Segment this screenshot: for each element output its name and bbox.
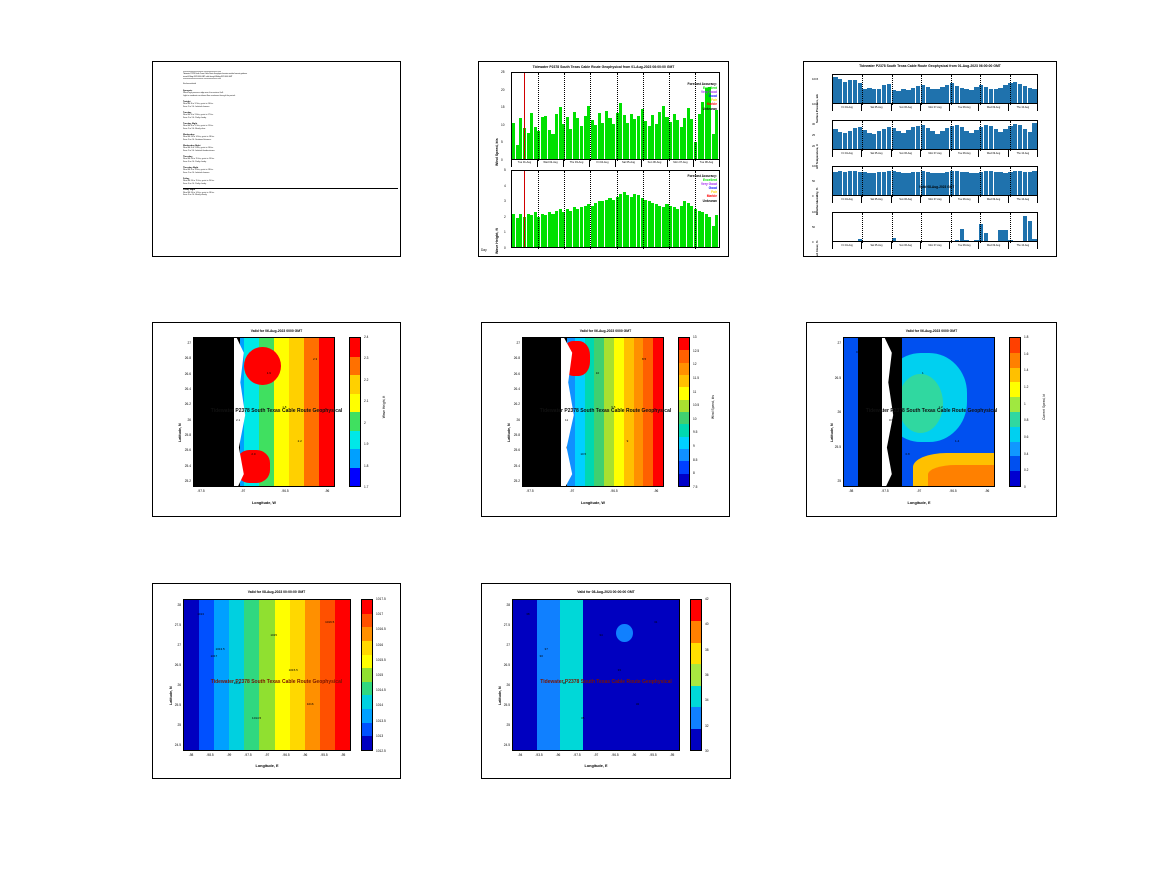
contour-band xyxy=(335,600,351,750)
day-gridline xyxy=(1010,213,1011,243)
met-bars-3 xyxy=(833,213,1037,241)
colorbar-tick: 32 xyxy=(705,724,709,728)
report-subtitle: Site forecast detail xyxy=(183,84,400,86)
map-title: Valid for 06-Aug-2023 0000 GMT xyxy=(482,329,729,333)
map-y-tick: 27 xyxy=(825,341,841,345)
day-label: Tue 08-Aug xyxy=(693,160,720,167)
y-tick-label: 0 xyxy=(501,158,503,162)
bar xyxy=(906,90,910,103)
map-y-tick: 26.5 xyxy=(825,376,841,380)
contour-label: 0.8 xyxy=(906,452,910,456)
colorbar-swatch xyxy=(350,338,360,357)
colorbar-tick: 1.4 xyxy=(1024,368,1028,372)
map-y-tick: 25.2 xyxy=(175,479,191,483)
bar xyxy=(1003,85,1007,103)
met-y-tick: 25 xyxy=(812,133,815,137)
colorbar xyxy=(349,337,361,487)
colorbar-tick: 1.6 xyxy=(1024,352,1028,356)
bar xyxy=(901,89,905,103)
colorbar-tick: 2.3 xyxy=(364,356,368,360)
contour-label: 1015 xyxy=(270,633,277,637)
day-gridline xyxy=(951,121,952,151)
map-y-tick: 25.4 xyxy=(175,464,191,468)
day-label: Fri 04-Aug xyxy=(832,104,861,111)
y-tick-label: 5 xyxy=(504,168,506,172)
day-gridline xyxy=(1010,121,1011,151)
map-y-tick: 26 xyxy=(165,683,181,687)
map-y-tick: 27 xyxy=(175,341,191,345)
contour-label: 2.3 xyxy=(205,350,209,354)
day-label: Sat 05-Aug xyxy=(861,150,890,157)
day-label: Thu 03-Aug xyxy=(563,160,589,167)
y-tick-label: 25 xyxy=(501,70,505,74)
bar xyxy=(843,172,847,195)
colorbar-swatch xyxy=(1010,382,1020,397)
bar xyxy=(964,240,968,241)
map-x-tick: -97 xyxy=(236,489,250,493)
day-label: Thu 10-Aug xyxy=(1008,104,1038,111)
map-y-tick: 27 xyxy=(165,643,181,647)
forecast-block: Tuesday Night Wind SE 8 to 12 kts, gusts… xyxy=(183,123,400,131)
colorbar xyxy=(1009,337,1021,487)
day-gridline xyxy=(980,167,981,197)
current-speed-map-panel: Valid for 06-Aug-2023 0000 GMT 0.20.40.6… xyxy=(806,322,1057,517)
colorbar xyxy=(690,599,702,751)
y-tick-label: 2 xyxy=(504,215,506,219)
map-x-tick: -97.5 xyxy=(570,753,584,757)
colorbar-swatch xyxy=(691,600,701,621)
bar xyxy=(960,229,964,241)
bar xyxy=(916,126,920,149)
day-gridline xyxy=(921,75,922,105)
contour-band xyxy=(898,374,943,433)
bar xyxy=(974,240,978,241)
colorbar-tick: 1.8 xyxy=(364,464,368,468)
now-marker-line xyxy=(524,73,525,159)
map-x-tick: -96 xyxy=(551,753,565,757)
bar xyxy=(964,172,968,195)
contour-label: 1 xyxy=(922,371,924,375)
bar xyxy=(989,171,993,195)
contour-label: 0.6 xyxy=(889,418,893,422)
met-day-axis-2: Fri 04-AugSat 05-AugSun 06-AugMon 07-Aug… xyxy=(832,196,1038,203)
map-y-tick: 27 xyxy=(504,341,520,345)
colorbar-tick: 11.5 xyxy=(693,376,699,380)
map-x-tick: -96 xyxy=(298,753,312,757)
map-x-tick: -98 xyxy=(184,753,198,757)
map-x-tick: -97.5 xyxy=(194,489,208,493)
map-y-tick: 26 xyxy=(825,410,841,414)
bar xyxy=(848,131,852,149)
map-x-tick: -97 xyxy=(565,489,579,493)
colorbar-tick: 1.8 xyxy=(1024,335,1028,339)
map-x-tick: -96.5 xyxy=(279,753,293,757)
colorbar-swatch xyxy=(1010,338,1020,353)
met-y-tick: 50 xyxy=(812,225,815,229)
colorbar-swatch xyxy=(362,668,372,682)
day-gridline xyxy=(951,167,952,197)
bar xyxy=(940,173,944,195)
bar xyxy=(926,172,930,195)
bar xyxy=(955,240,959,241)
bar xyxy=(998,230,1002,241)
chart-title: Tidewater P2378 South Texas Cable Route … xyxy=(804,64,1056,68)
colorbar-tick: 30 xyxy=(705,749,709,753)
day-label: Thu 10-Aug xyxy=(1008,242,1038,249)
met-axis-label-3: Cloud Cover, % xyxy=(815,191,819,257)
colorbar-tick: 7.5 xyxy=(693,485,697,489)
map-y-tick: 26.2 xyxy=(175,402,191,406)
bar xyxy=(901,173,905,195)
colorbar-swatch xyxy=(350,394,360,413)
forecast-block-line: Seas 2 to 4 ft. Scattered showers. xyxy=(183,139,400,142)
bar xyxy=(994,129,998,149)
contour-label: 1.4 xyxy=(955,439,959,443)
bar xyxy=(1013,124,1017,149)
map-x-tick: -97 xyxy=(912,489,926,493)
y-tick-label: 1 xyxy=(504,230,506,234)
y-tick-label: 0 xyxy=(504,246,506,250)
day-label: Sat 05-Aug xyxy=(861,104,890,111)
bar xyxy=(955,125,959,149)
colorbar-tick: 2.4 xyxy=(364,335,368,339)
colorbar-swatch xyxy=(691,643,701,664)
colorbar-swatch xyxy=(679,412,689,424)
contour-label: 31 xyxy=(654,620,657,624)
contour-label: 30 xyxy=(540,654,543,658)
map-y-tick: 26 xyxy=(494,683,510,687)
day-gridline xyxy=(951,75,952,105)
colorbar-swatch xyxy=(679,400,689,412)
bar xyxy=(989,126,993,149)
forecast-block: Tuesday Wind SE 9 to 13 kts, gusts to 17… xyxy=(183,112,400,120)
contour-label: 10.5 xyxy=(580,452,586,456)
bar xyxy=(901,133,905,149)
map-x-tick: -96.5 xyxy=(946,489,960,493)
met-parameters-panel: Tidewater P2378 South Texas Cable Route … xyxy=(803,61,1057,257)
bar xyxy=(848,171,852,195)
bar xyxy=(715,110,718,159)
colorbar-swatch xyxy=(679,350,689,362)
map-x-axis-label: Longitude, W xyxy=(193,501,335,505)
bar xyxy=(867,88,871,103)
bar xyxy=(1032,171,1036,195)
bar xyxy=(1023,86,1027,103)
bar xyxy=(887,127,891,149)
colorbar-swatch xyxy=(679,474,689,486)
day-label: Sat 05-Aug xyxy=(861,196,890,203)
day-label: Sun 06-Aug xyxy=(891,150,920,157)
map-x-tick: -97.5 xyxy=(523,489,537,493)
colorbar-swatch xyxy=(1010,456,1020,471)
met-bars-2 xyxy=(833,167,1037,195)
contour-label: 1.9 xyxy=(267,371,271,375)
bar xyxy=(882,172,886,195)
bar xyxy=(1028,172,1032,195)
bar xyxy=(935,89,939,103)
map-y-axis-label: Latitude, N xyxy=(830,372,834,442)
day-gridline xyxy=(1010,167,1011,197)
colorbar-swatch xyxy=(362,627,372,641)
day-label: Sun 06-Aug xyxy=(891,242,920,249)
map-overlay-label: Tidewater P2378 South Texas Cable Route … xyxy=(153,408,400,414)
map-y-tick: 27 xyxy=(494,643,510,647)
bar xyxy=(715,215,718,247)
bar xyxy=(887,84,891,103)
met-plot-area-3 xyxy=(832,212,1038,242)
map-x-tick: -98 xyxy=(844,489,858,493)
bar xyxy=(882,129,886,149)
map-x-tick: -95 xyxy=(336,753,350,757)
met-y-tick: 30 xyxy=(812,122,815,126)
bar xyxy=(974,87,978,103)
contour-label: 11 xyxy=(565,418,568,422)
day-label: Mon 07-Aug xyxy=(920,104,949,111)
bar xyxy=(843,82,847,103)
map-x-axis-label: Longitude, W xyxy=(522,501,664,505)
contour-band xyxy=(305,600,321,750)
bar xyxy=(916,86,920,103)
bar xyxy=(867,133,871,149)
day-label: Thu 10-Aug xyxy=(1008,150,1038,157)
bar xyxy=(858,239,862,241)
contour-band xyxy=(259,600,275,750)
contour-label: 33 xyxy=(618,668,621,672)
map-x-tick: -97.5 xyxy=(878,489,892,493)
bar xyxy=(853,128,857,149)
contour-band xyxy=(537,600,562,750)
contour-label: 1013.5 xyxy=(216,647,225,651)
colorbar-tick: 11 xyxy=(693,390,696,394)
contour-band xyxy=(275,600,291,750)
map-y-tick: 27.5 xyxy=(494,623,510,627)
report-page: ====================== ============== ==… xyxy=(0,0,1167,875)
map-title: Valid for 08-Aug-2023 00:00:00 GMT xyxy=(482,590,730,594)
bar xyxy=(1018,171,1022,195)
colorbar-tick: 38 xyxy=(705,648,709,652)
map-x-tick: -95.5 xyxy=(646,753,660,757)
colorbar-swatch xyxy=(1010,368,1020,383)
contour-label: 2.2 xyxy=(221,384,225,388)
wind-speed-axis-label: Wind Speed, kts xyxy=(495,86,499,166)
x-axis-label: Day xyxy=(481,248,487,252)
colorbar-tick: 0 xyxy=(1024,485,1026,489)
bar xyxy=(906,173,910,195)
day-label: Mon 07-Aug xyxy=(920,150,949,157)
colorbar-swatch xyxy=(1010,412,1020,427)
colorbar-tick: 42 xyxy=(705,597,709,601)
day-label: Tue 08-Aug xyxy=(949,104,978,111)
bar xyxy=(955,171,959,195)
colorbar-swatch xyxy=(350,412,360,431)
bar xyxy=(833,129,837,149)
colorbar-tick: 1014 xyxy=(376,703,383,707)
bar xyxy=(1032,239,1036,241)
colorbar-tick: 0.4 xyxy=(1024,452,1028,456)
colorbar-swatch xyxy=(691,707,701,728)
contour-label: 32 xyxy=(636,702,639,706)
bar xyxy=(1028,132,1032,149)
day-gridline xyxy=(980,121,981,151)
met-y-tick: 1015 xyxy=(812,77,818,81)
bar xyxy=(911,88,915,103)
met-plot-area-1 xyxy=(832,120,1038,150)
contour-label: 10 xyxy=(596,371,599,375)
map-overlay-label: Tidewater P2378 South Texas Cable Route … xyxy=(482,408,729,414)
bar xyxy=(945,172,949,195)
forecast-block: Thursday Night Wind SE 9 to 14 kts, gust… xyxy=(183,167,400,175)
map-y-tick: 25 xyxy=(165,723,181,727)
contour-label: 1017 xyxy=(211,654,218,658)
colorbar-swatch xyxy=(362,641,372,655)
map-y-tick: 26.2 xyxy=(504,402,520,406)
contour-label: 1016.5 xyxy=(325,620,334,624)
colorbar-swatch xyxy=(362,655,372,669)
colorbar-swatch xyxy=(679,363,689,375)
forecast-accuracy-legend: Forecast Accuracy: Excellent Very Good G… xyxy=(629,82,717,111)
met-bars-1 xyxy=(833,121,1037,149)
day-gridline xyxy=(590,171,591,249)
bar xyxy=(858,172,862,195)
bar xyxy=(1032,123,1036,149)
met-y-tick: 100 xyxy=(812,164,817,168)
colorbar-tick: 1.7 xyxy=(364,485,368,489)
bar xyxy=(882,85,886,103)
bar xyxy=(994,172,998,195)
bar xyxy=(945,128,949,149)
colorbar-swatch xyxy=(679,449,689,461)
map-y-tick: 26.8 xyxy=(175,356,191,360)
map-x-tick: -96 xyxy=(649,489,663,493)
day-gridline xyxy=(862,75,863,105)
report-header-line: ====================== ============== ==… xyxy=(183,79,400,81)
bar xyxy=(926,87,930,103)
forecast-text-panel: ====================== ============== ==… xyxy=(152,61,401,257)
colorbar-tick: 0.8 xyxy=(1024,418,1028,422)
colorbar-tick: 2.1 xyxy=(364,399,368,403)
day-label: Sat 05-Aug xyxy=(615,160,641,167)
y-tick-label: 20 xyxy=(501,88,505,92)
colorbar-swatch xyxy=(679,375,689,387)
contour-label: 1015.5 xyxy=(289,668,298,672)
day-label: Mon 07-Aug xyxy=(920,196,949,203)
met-y-tick: 0 xyxy=(812,240,814,244)
map-x-tick: -94 xyxy=(513,753,527,757)
bar xyxy=(896,91,900,103)
day-label: Sun 06-Aug xyxy=(891,196,920,203)
day-gridline xyxy=(564,171,565,249)
day-gridline xyxy=(1010,75,1011,105)
bar xyxy=(984,171,988,195)
map-y-tick: 26 xyxy=(175,418,191,422)
contour-band xyxy=(184,600,200,750)
day-gridline xyxy=(921,213,922,243)
map-x-tick: -97.5 xyxy=(241,753,255,757)
day-gridline xyxy=(980,75,981,105)
bar xyxy=(833,172,837,195)
bar xyxy=(843,133,847,149)
bar xyxy=(998,172,1002,195)
bar xyxy=(998,132,1002,149)
bar xyxy=(930,131,934,149)
bar xyxy=(984,233,988,241)
day-gridline xyxy=(617,171,618,249)
colorbar-swatch xyxy=(679,387,689,399)
map-x-tick: -96.5 xyxy=(607,489,621,493)
bar xyxy=(906,130,910,149)
bar xyxy=(872,134,876,149)
colorbar-tick: 9 xyxy=(693,444,695,448)
bar xyxy=(1003,129,1007,149)
map-y-axis-label: Latitude, N xyxy=(178,372,182,442)
map-y-tick: 25.8 xyxy=(504,433,520,437)
day-gridline xyxy=(892,121,893,151)
contour-label: 12 xyxy=(534,350,537,354)
bar xyxy=(960,127,964,149)
bar xyxy=(969,173,973,195)
map-y-tick: 26.5 xyxy=(165,663,181,667)
map-y-tick: 25.6 xyxy=(504,448,520,452)
map-y-tick: 27.5 xyxy=(165,623,181,627)
colorbar-swatch xyxy=(1010,353,1020,368)
day-gridline xyxy=(538,171,539,249)
bar xyxy=(858,83,862,103)
colorbar-tick: 9.5 xyxy=(693,430,697,434)
bar xyxy=(994,89,998,103)
day-gridline xyxy=(892,167,893,197)
bar xyxy=(838,132,842,149)
colorbar-swatch xyxy=(362,723,372,737)
map-x-tick: -98.5 xyxy=(203,753,217,757)
map-title: Valid for 06-Aug-2023 0000 GMT xyxy=(807,329,1056,333)
map-y-tick: 25.5 xyxy=(494,703,510,707)
map-x-tick: -97 xyxy=(589,753,603,757)
legend-item-unknown: Unknown xyxy=(629,199,717,203)
map-x-tick: -96 xyxy=(627,753,641,757)
colorbar-tick: 8 xyxy=(693,471,695,475)
now-marker-line xyxy=(524,171,525,247)
bar xyxy=(867,173,871,195)
colorbar-swatch xyxy=(679,461,689,473)
bar xyxy=(896,172,900,195)
contour-label: 2.1 xyxy=(236,418,240,422)
colorbar-swatch xyxy=(679,437,689,449)
colorbar-swatch xyxy=(362,709,372,723)
colorbar-tick: 1016.5 xyxy=(376,627,386,631)
bar xyxy=(877,131,881,149)
contour-band xyxy=(560,600,585,750)
day-label: Thu 10-Aug xyxy=(1008,196,1038,203)
colorbar-swatch xyxy=(1010,427,1020,442)
day-label: Sun 06-Aug xyxy=(641,160,667,167)
day-gridline xyxy=(617,73,618,161)
bar xyxy=(955,86,959,103)
colorbar-tick: 1013.5 xyxy=(376,719,386,723)
colorbar-tick: 12 xyxy=(693,362,697,366)
day-gridline xyxy=(892,75,893,105)
contour-label: 8 xyxy=(545,391,547,395)
map-y-tick: 26.8 xyxy=(504,356,520,360)
map-title: Valid for 08-Aug-2023 00:00:00 GMT xyxy=(153,590,400,594)
colorbar-tick: 1016 xyxy=(376,643,383,647)
forecast-block-line: Seas 2 to 3 ft. Isolated thunderstorms. xyxy=(183,150,400,153)
map-y-axis-label: Latitude, N xyxy=(507,372,511,442)
colorbar-label: Current Speed, kt xyxy=(1042,372,1046,442)
colorbar-tick: 1015.5 xyxy=(376,658,386,662)
forecast-block-line: Seas 2 to 3 ft. Isolated showers. xyxy=(183,106,400,109)
colorbar-tick: 0.2 xyxy=(1024,468,1028,472)
bar xyxy=(1023,216,1027,241)
